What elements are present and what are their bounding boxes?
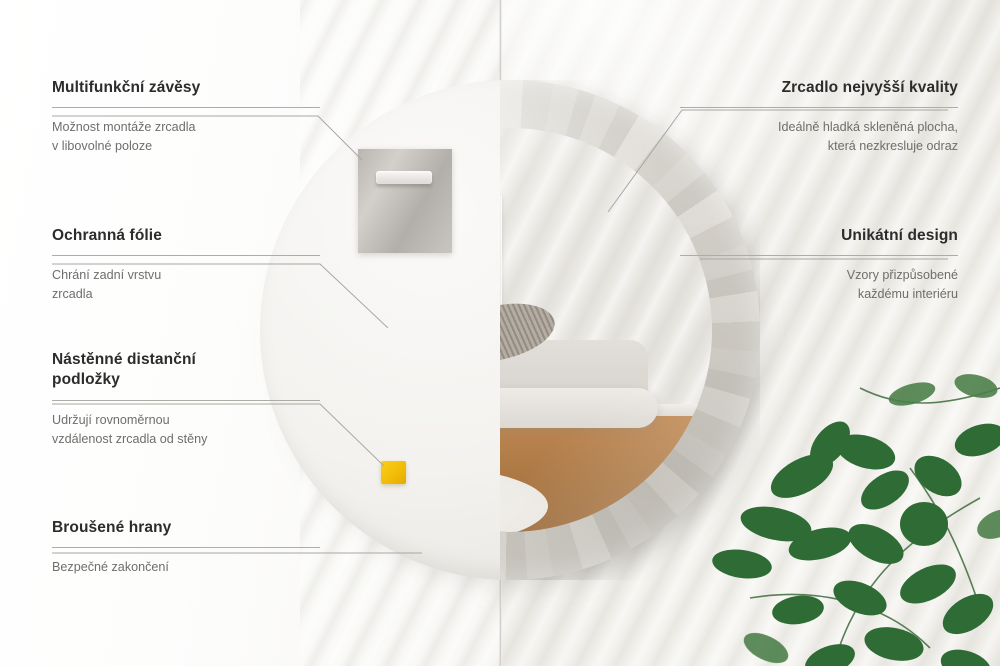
callout-description: Možnost montáže zrcadla v libovolné polo… [52, 118, 320, 155]
infographic-canvas: Multifunkční závěsy Možnost montáže zrca… [0, 0, 1000, 666]
hanger-bracket [358, 149, 452, 253]
callout-rule [52, 547, 320, 548]
callout-multifunkcni-zavesy: Multifunkční závěsy Možnost montáže zrca… [52, 78, 320, 156]
callout-title: Unikátní design [680, 226, 958, 246]
hanger-slot [376, 171, 432, 184]
spacer-pad [381, 461, 406, 484]
callout-description: Udržují rovnoměrnou vzdálenost zrcadla o… [52, 411, 320, 448]
callout-brousene-hrany: Broušené hrany Bezpečné zakončení [52, 518, 320, 577]
callout-description: Bezpečné zakončení [52, 558, 320, 577]
callout-description: Chrání zadní vrstvu zrcadla [52, 266, 320, 303]
callout-description: Ideálně hladká skleněná plocha, která ne… [680, 118, 958, 155]
callout-zrcadlo-nejvyssi-kvality: Zrcadlo nejvyšší kvality Ideálně hladká … [680, 78, 958, 156]
callout-unikatni-design: Unikátní design Vzory přizpůsobené každé… [680, 226, 958, 304]
callout-title: Broušené hrany [52, 518, 320, 538]
callout-description: Vzory přizpůsobené každému interiéru [680, 266, 958, 303]
callout-title: Ochranná fólie [52, 226, 320, 246]
callout-rule [52, 107, 320, 108]
callout-rule [680, 255, 958, 256]
callout-rule [52, 255, 320, 256]
callout-rule [680, 107, 958, 108]
callout-nastenne-distancni-podlozky: Nástěnné distanční podložky Udržují rovn… [52, 350, 320, 448]
callout-rule [52, 400, 320, 401]
callout-title: Nástěnné distanční podložky [52, 350, 320, 391]
callout-ochranna-folie: Ochranná fólie Chrání zadní vrstvu zrcad… [52, 226, 320, 304]
callout-title: Multifunkční závěsy [52, 78, 320, 98]
callout-title: Zrcadlo nejvyšší kvality [680, 78, 958, 98]
